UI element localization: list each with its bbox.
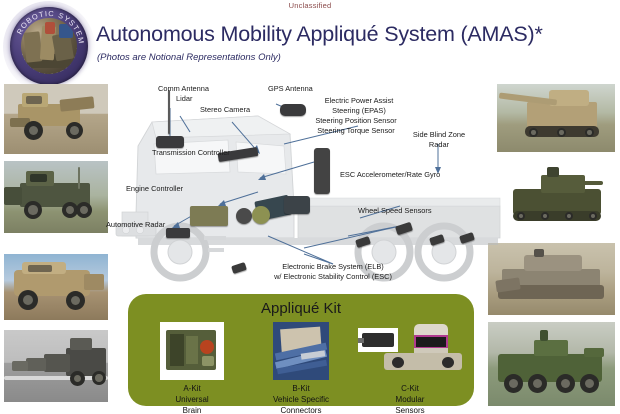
kit-item-c-kit: C-Kit Modular Sensors — [354, 322, 466, 414]
photo-mrap-offroad — [4, 254, 108, 320]
engine-controller-unit — [190, 206, 228, 226]
logo-inner-photo — [21, 18, 77, 74]
photo-tactical-truck-desert — [4, 84, 108, 154]
b-kit-thumbnail — [273, 322, 329, 380]
c-kit-thumbnail — [358, 322, 462, 380]
photo-tracked-ifv — [497, 155, 615, 237]
callout-ebs-line2: w/ Electronic Stability Control (ESC) — [218, 272, 448, 282]
a-kit-caption: A-Kit Universal Brain — [136, 383, 248, 414]
callout-wheel-speed: Wheel Speed Sensors — [358, 206, 432, 216]
callout-epas-line2: Steering (EPAS) — [300, 106, 418, 116]
photo-paladin-howitzer — [497, 84, 615, 152]
c-kit-name: C-Kit — [354, 383, 466, 394]
a-kit-line3: Brain — [136, 405, 248, 414]
callout-esc-accelerometer: ESC Accelerometer/Rate Gyro — [340, 170, 440, 180]
automotive-radar-unit — [166, 228, 190, 238]
valve-cluster-unit — [252, 206, 270, 224]
a-kit-thumbnail — [160, 322, 224, 380]
callout-side-blind-zone-2: Radar — [400, 140, 478, 150]
callout-side-blind-zone-1: Side Blind Zone — [400, 130, 478, 140]
photo-green-tractor-truck — [4, 161, 108, 233]
c-kit-line2: Modular — [354, 394, 466, 405]
b-kit-caption: B-Kit Vehicle Specific Connectors — [245, 383, 357, 414]
callout-stereo-camera: Stereo Camera — [200, 105, 250, 115]
callout-engine-controller: Engine Controller — [126, 184, 183, 194]
epas-steering-unit — [314, 148, 330, 194]
photo-convoy — [4, 330, 108, 402]
callout-automotive-radar: Automotive Radar — [106, 220, 165, 230]
lidar-unit — [156, 136, 184, 148]
callout-epas-line1: Electric Power Assist — [300, 96, 418, 106]
c-kit-caption: C-Kit Modular Sensors — [354, 383, 466, 414]
callout-ebs-line1: Electronic Brake System (ELB) — [218, 262, 448, 272]
applique-kit-panel: Appliqué Kit A-Kit Universal Brain — [128, 294, 474, 406]
page-subtitle: (Photos are Notional Representations Onl… — [97, 52, 281, 63]
b-kit-line2: Vehicle Specific — [245, 394, 357, 405]
a-kit-line2: Universal — [136, 394, 248, 405]
c-kit-line3: Sensors — [354, 405, 466, 414]
brake-actuator-unit — [236, 208, 252, 224]
b-kit-line3: Connectors — [245, 405, 357, 414]
kit-item-b-kit: B-Kit Vehicle Specific Connectors — [245, 322, 357, 414]
page-title: Autonomous Mobility Appliqué System (AMA… — [96, 22, 543, 47]
vehicle-diagram: Comm Antenna Lidar Stereo Camera GPS Ant… — [108, 86, 508, 296]
callout-transmission-controller: Transmission Controller — [152, 148, 230, 158]
a-kit-name: A-Kit — [136, 383, 248, 394]
callout-steering-position: Steering Position Sensor — [294, 116, 418, 126]
comm-antenna-mast — [168, 90, 170, 134]
b-kit-name: B-Kit — [245, 383, 357, 394]
applique-kit-title: Appliqué Kit — [128, 300, 474, 317]
slide-canvas: Unclassified ROBOTIC SYSTEMS JOINT PROJE… — [0, 0, 620, 414]
callout-lidar: Lidar — [176, 94, 192, 104]
callout-comm-antenna: Comm Antenna — [158, 84, 209, 94]
photo-stryker — [488, 322, 615, 406]
callout-gps-antenna: GPS Antenna — [268, 84, 313, 94]
logo-ring: ROBOTIC SYSTEMS JOINT PROJECT OFFICE — [10, 7, 88, 85]
kit-item-a-kit: A-Kit Universal Brain — [136, 322, 248, 414]
ebs-module-unit — [284, 196, 310, 214]
rsjpo-logo: ROBOTIC SYSTEMS JOINT PROJECT OFFICE — [3, 1, 95, 93]
